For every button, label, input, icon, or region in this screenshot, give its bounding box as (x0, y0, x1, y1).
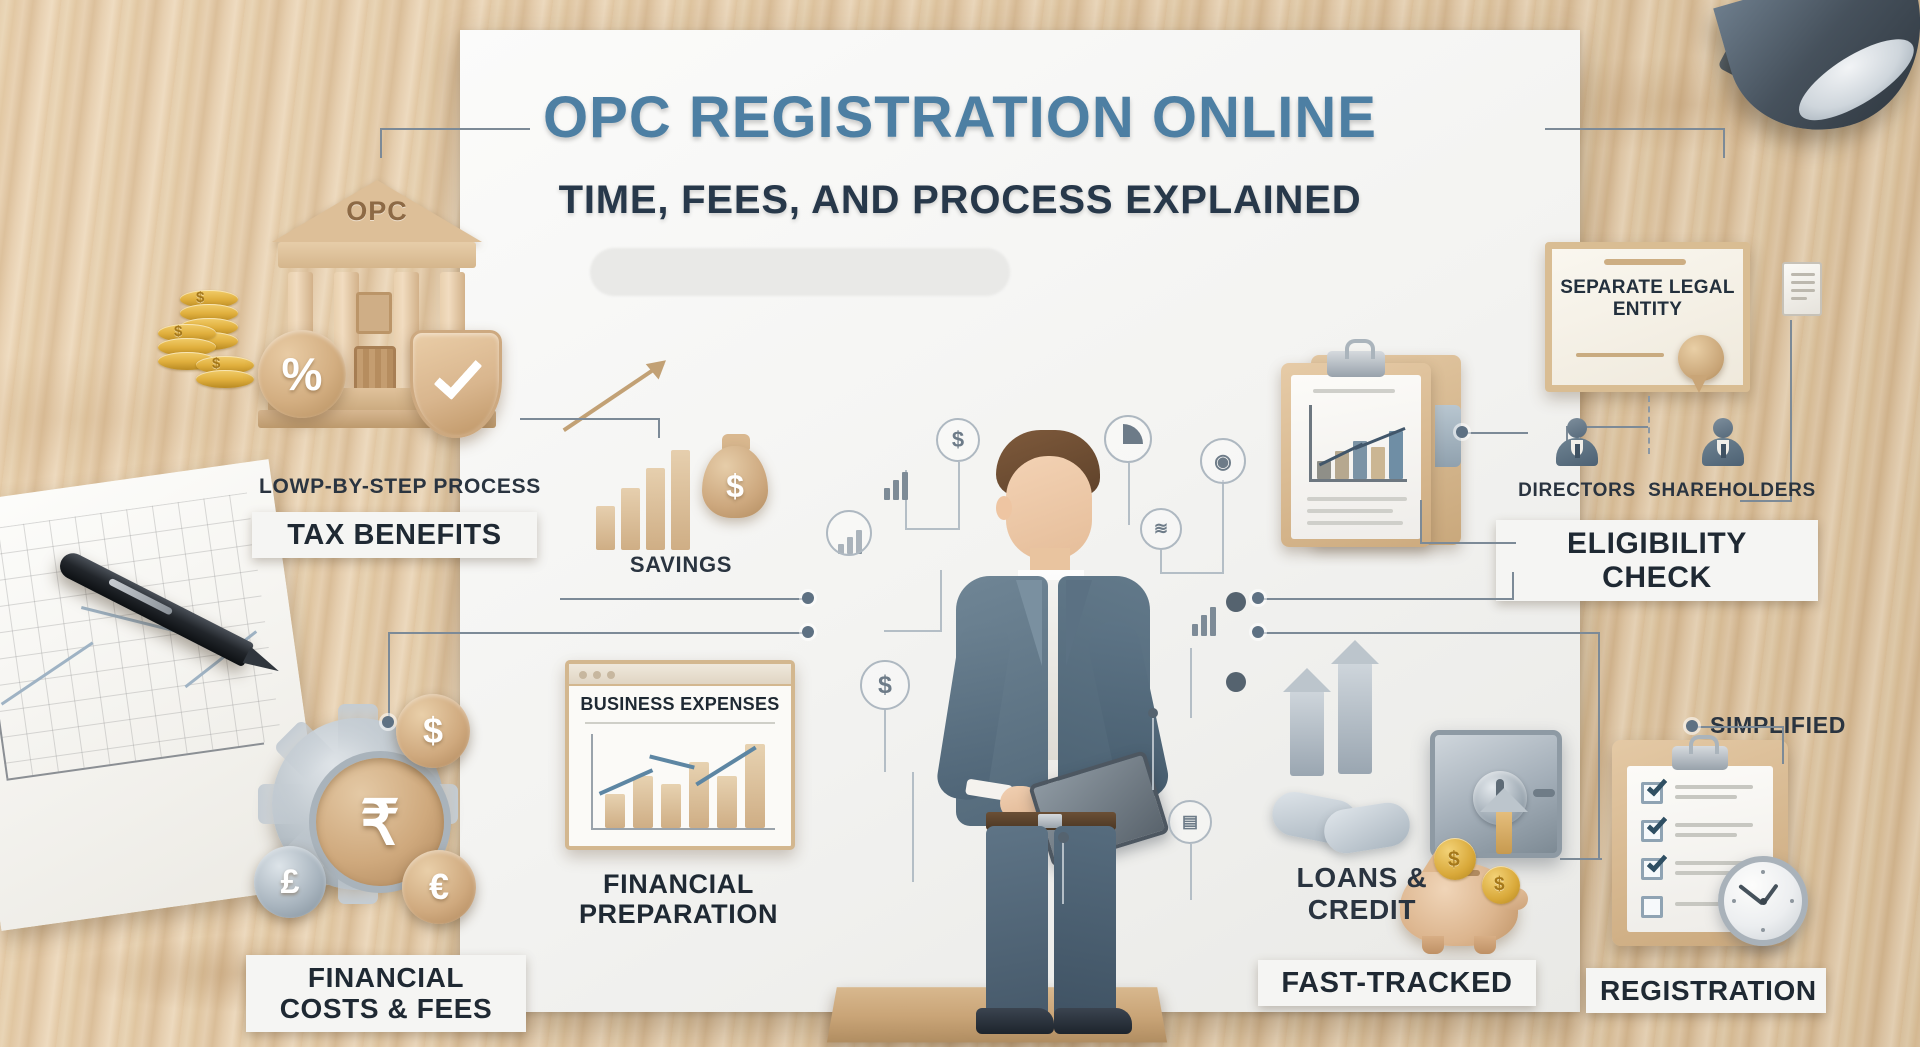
checkbox-checked[interactable] (1641, 782, 1663, 804)
node-connector (1160, 550, 1162, 574)
infographic-canvas: OPC REGISTRATION ONLINE TIME, FEES, AND … (0, 0, 1920, 1047)
node-connector (1190, 844, 1192, 900)
coin-icon (196, 370, 254, 388)
solid-dot-icon (1148, 708, 1158, 718)
percent-badge-icon: % (258, 330, 346, 418)
connector-simplified-drop (1782, 726, 1784, 764)
lapel-right (1066, 580, 1092, 666)
checkbox-checked[interactable] (1641, 858, 1663, 880)
clipboard-paper (1291, 375, 1421, 539)
chart-axis-y (1309, 405, 1312, 481)
connector-eligibility-left (1258, 598, 1514, 600)
connector-eligibility-drop (1512, 572, 1514, 600)
clock-mark (1790, 899, 1794, 903)
node-connector (884, 630, 942, 632)
node-connector (912, 772, 914, 882)
node-connector (1062, 842, 1064, 904)
expenses-axis-y (591, 734, 593, 830)
business-expenses-title: BUSINESS EXPENSES (569, 694, 791, 715)
node-connector (905, 528, 960, 530)
safe-handle-icon (1533, 789, 1555, 797)
solid-dot-icon (1058, 832, 1069, 843)
clipboard-clip-icon (1672, 746, 1728, 770)
document-icon (1782, 262, 1822, 316)
financial-gear-graphic: ₹ $ £ € (250, 700, 490, 940)
window-dot-icon (593, 671, 601, 679)
connector-report-up (1420, 500, 1422, 542)
bank-window-icon (356, 292, 392, 334)
node-connector (1190, 648, 1192, 718)
savings-bar (621, 488, 640, 550)
checkbox-checked[interactable] (1641, 820, 1663, 842)
connector-doc-down (1790, 320, 1792, 500)
shareholders-label: SHAREHOLDERS (1644, 480, 1820, 502)
chart-axis-x (1309, 479, 1407, 482)
card-rule (585, 722, 775, 724)
connector-mid-left (388, 632, 808, 634)
savings-bar (596, 506, 615, 550)
trend-seg (599, 768, 654, 795)
shoe-right-icon (1054, 1008, 1132, 1034)
certificate-seal-icon (1678, 335, 1724, 381)
fast-tracked-chip[interactable]: FAST-TRACKED (1258, 960, 1536, 1006)
paper-rule (1307, 509, 1393, 513)
checklist-line (1675, 833, 1737, 837)
certificate-bottom-rule (1576, 353, 1664, 357)
person-head-icon (1567, 418, 1587, 438)
savings-label: SAVINGS (586, 552, 776, 578)
data-node-icon: ▤ (1168, 800, 1212, 844)
trend-seg (649, 754, 695, 769)
chart-node-icon: ≋ (1140, 508, 1182, 550)
check-mark-icon (434, 350, 483, 400)
target-node-icon: ◉ (1200, 438, 1246, 484)
clock-icon (1718, 856, 1808, 946)
registration-chip[interactable]: REGISTRATION (1586, 968, 1826, 1013)
clock-mark (1761, 870, 1765, 874)
node-connector (1160, 572, 1224, 574)
coin-dollar-glyph: $ (196, 289, 204, 306)
pie-chart-node-icon (1104, 415, 1152, 463)
person-tie-icon (1721, 444, 1726, 458)
check-mark-icon (1647, 775, 1668, 797)
checklist-line (1675, 871, 1731, 875)
directors-label: DIRECTORS (1506, 480, 1648, 502)
node-connector (940, 570, 942, 632)
node-connector (884, 710, 886, 772)
node-connector (1222, 480, 1224, 572)
clock-mark (1761, 928, 1765, 932)
coin-dollar-glyph: $ (1494, 874, 1505, 896)
check-mark-icon (1647, 813, 1668, 835)
savings-bar (646, 468, 665, 550)
directors-person-icon (1554, 418, 1600, 472)
step-by-step-process-label: LOWP-BY-STEP PROCESS (255, 475, 545, 499)
paper-rule (1307, 497, 1407, 501)
dollar-node-icon-2: $ (860, 660, 910, 710)
connector-simplified (1692, 726, 1784, 728)
expenses-axis-x (591, 828, 775, 830)
node-connector (1128, 463, 1130, 525)
report-clipboard-icon (1275, 345, 1465, 550)
piggy-leg (1422, 936, 1444, 954)
connector-savings-right (560, 598, 810, 600)
eligibility-check-chip[interactable]: ELIGIBILITY CHECK (1496, 520, 1818, 601)
connector-dot (802, 626, 814, 638)
paper-rule (1307, 521, 1403, 525)
financial-costs-fees-chip[interactable]: FINANCIAL COSTS & FEES (246, 955, 526, 1032)
shoe-left-icon (976, 1008, 1054, 1034)
bank-opc-label: OPC (272, 196, 482, 227)
checklist-line (1675, 785, 1753, 789)
clipboard-clip-icon (1327, 351, 1385, 377)
connector-dot (1456, 426, 1468, 438)
connector-dot (1252, 592, 1264, 604)
connector-dot (1252, 626, 1264, 638)
piggy-leg (1474, 936, 1496, 954)
connector-report-right (1420, 542, 1516, 544)
handshake-icon (1272, 790, 1412, 860)
node-connector (1152, 718, 1154, 790)
checklist-line (1675, 795, 1737, 799)
clock-center-pin (1760, 898, 1767, 905)
connector-dot (802, 592, 814, 604)
check-mark-icon (1647, 851, 1668, 873)
business-expenses-card[interactable]: BUSINESS EXPENSES (565, 660, 795, 850)
lapel-left (1016, 580, 1042, 666)
solid-dot-icon (1226, 672, 1246, 692)
checkbox-unchecked[interactable] (1641, 896, 1663, 918)
window-dot-icon (607, 671, 615, 679)
head-icon (1006, 456, 1092, 560)
euro-coin-icon: € (402, 850, 476, 924)
savings-graphic (590, 390, 770, 550)
small-growth-arrow-icon (1496, 810, 1512, 854)
page-title: OPC REGISTRATION ONLINE (0, 84, 1920, 151)
bank-door-icon (354, 346, 396, 392)
connector-dot (1686, 720, 1698, 732)
dollar-node-icon: $ (936, 418, 980, 462)
trend-seg (695, 746, 756, 786)
connector-dot (382, 716, 394, 728)
connector-report-top (1462, 432, 1528, 434)
bar-chart-node-icon (884, 470, 908, 500)
connector-title-left (380, 128, 530, 130)
solid-dot-icon (1226, 592, 1246, 612)
certificate-dashed-connector (1648, 396, 1650, 454)
certificate-top-rule (1604, 259, 1686, 265)
expenses-trend-line (597, 736, 767, 806)
savings-bar (671, 450, 690, 550)
report-bar (1371, 447, 1385, 479)
connector-title-left-drop (380, 128, 382, 158)
node-connector (958, 462, 960, 528)
card-titlebar (569, 664, 791, 686)
coin-dollar-glyph: $ (212, 355, 220, 372)
report-bar (1389, 431, 1403, 479)
legal-entity-certificate-icon: SEPARATE LEGAL ENTITY (1545, 242, 1750, 392)
shareholders-person-icon (1700, 418, 1746, 472)
leg-left (986, 826, 1048, 1022)
connector-to-checklist (1560, 858, 1602, 860)
connector-title-right-drop (1723, 128, 1725, 158)
paper-rule (1313, 389, 1395, 393)
pound-coin-icon: £ (254, 846, 326, 918)
connector-left-upper-drop (658, 418, 660, 438)
ear-icon (996, 496, 1012, 520)
financial-preparation-label: FINANCIAL PREPARATION (556, 862, 801, 936)
checklist-line (1675, 823, 1753, 827)
chart-node-ring (826, 510, 872, 556)
clock-mark (1732, 899, 1736, 903)
bank-entablature (278, 242, 476, 268)
loans-credit-label: LOANS & CREDIT (1262, 862, 1462, 926)
growth-arrow-up-icon-2 (1338, 662, 1372, 774)
bar-chart-node-icon-3 (1192, 606, 1216, 636)
connector-title-right (1545, 128, 1725, 130)
person-tie-icon (1575, 444, 1580, 458)
coin-dollar-glyph: $ (174, 323, 182, 340)
connector-lower-right (1258, 632, 1600, 634)
connector-mid-left-drop (388, 632, 390, 722)
certificate-text: SEPARATE LEGAL ENTITY (1552, 277, 1743, 322)
dollar-coin-icon: $ (396, 694, 470, 768)
tax-benefits-chip[interactable]: TAX BENEFITS (252, 512, 537, 558)
person-head-icon (1713, 418, 1733, 438)
money-bag-icon (702, 446, 768, 518)
growth-arrow-up-icon (1290, 690, 1324, 776)
connector-left-upper (520, 418, 660, 420)
window-dot-icon (579, 671, 587, 679)
title-underbar (590, 248, 1010, 296)
connector-lower-right-drop (1598, 632, 1600, 860)
